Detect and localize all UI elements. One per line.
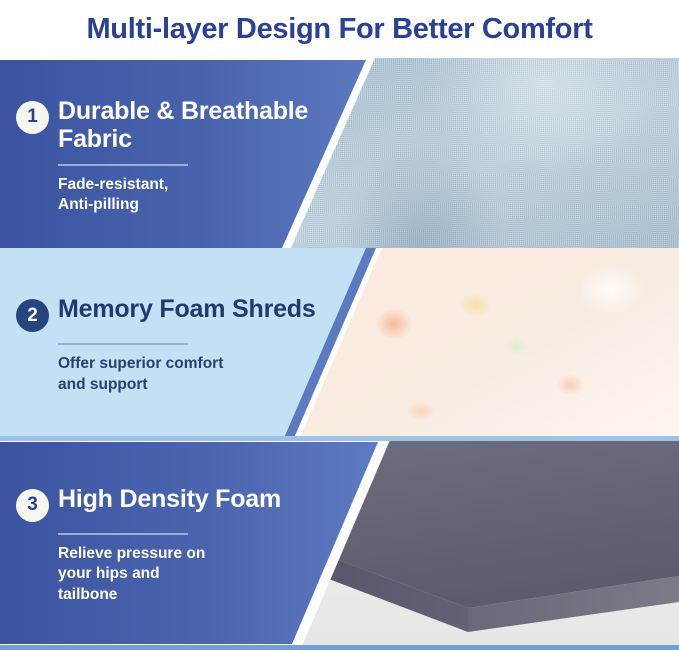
panel-1-head-row: 1 Durable & Breathable Fabric	[16, 97, 346, 153]
panel-1-divider	[58, 164, 188, 166]
panel-1-content: 1 Durable & Breathable Fabric Fade-resis…	[16, 58, 346, 250]
panel-1-subline-row: Anti-pilling	[58, 195, 308, 215]
panel-3-subline-row: your hips and	[58, 564, 308, 584]
panel-1-subline: Fade-resistant, Anti-pilling	[58, 175, 308, 216]
panel-2-content: 2 Memory Foam Shreds Offer superior comf…	[16, 248, 346, 438]
page-header: Multi-layer Design For Better Comfort	[0, 0, 679, 58]
panel-2-subline-row: and support	[58, 375, 308, 395]
panel-3-subline-row: tailbone	[58, 585, 308, 605]
step-number-badge-2: 2	[16, 299, 49, 332]
step-number-badge-3: 3	[16, 489, 49, 522]
panel-3-headline: High Density Foam	[58, 485, 281, 513]
panel-3-subline: Relieve pressure on your hips and tailbo…	[58, 544, 308, 605]
panel-2-subline-row: Offer superior comfort	[58, 354, 308, 374]
panel-3-content: 3 High Density Foam Relieve pressure on …	[16, 436, 346, 650]
panel-3-subline-row: Relieve pressure on	[58, 544, 308, 564]
feature-panel-3: 3 High Density Foam Relieve pressure on …	[0, 436, 679, 650]
feature-panel-2: 2 Memory Foam Shreds Offer superior comf…	[0, 248, 679, 438]
page-title: Multi-layer Design For Better Comfort	[86, 13, 592, 46]
step-number-badge-1: 1	[16, 101, 49, 134]
panel-2-head-row: 2 Memory Foam Shreds	[16, 295, 346, 332]
panel-2-subline: Offer superior comfort and support	[58, 354, 308, 395]
panel-1-subline-row: Fade-resistant,	[58, 175, 308, 195]
panel-2-divider	[58, 343, 188, 345]
panel-3-divider	[58, 533, 188, 535]
feature-panel-1: 1 Durable & Breathable Fabric Fade-resis…	[0, 58, 679, 250]
panel-1-headline: Durable & Breathable Fabric	[58, 97, 346, 153]
panel-2-headline: Memory Foam Shreds	[58, 295, 316, 323]
panel-3-head-row: 3 High Density Foam	[16, 485, 346, 522]
